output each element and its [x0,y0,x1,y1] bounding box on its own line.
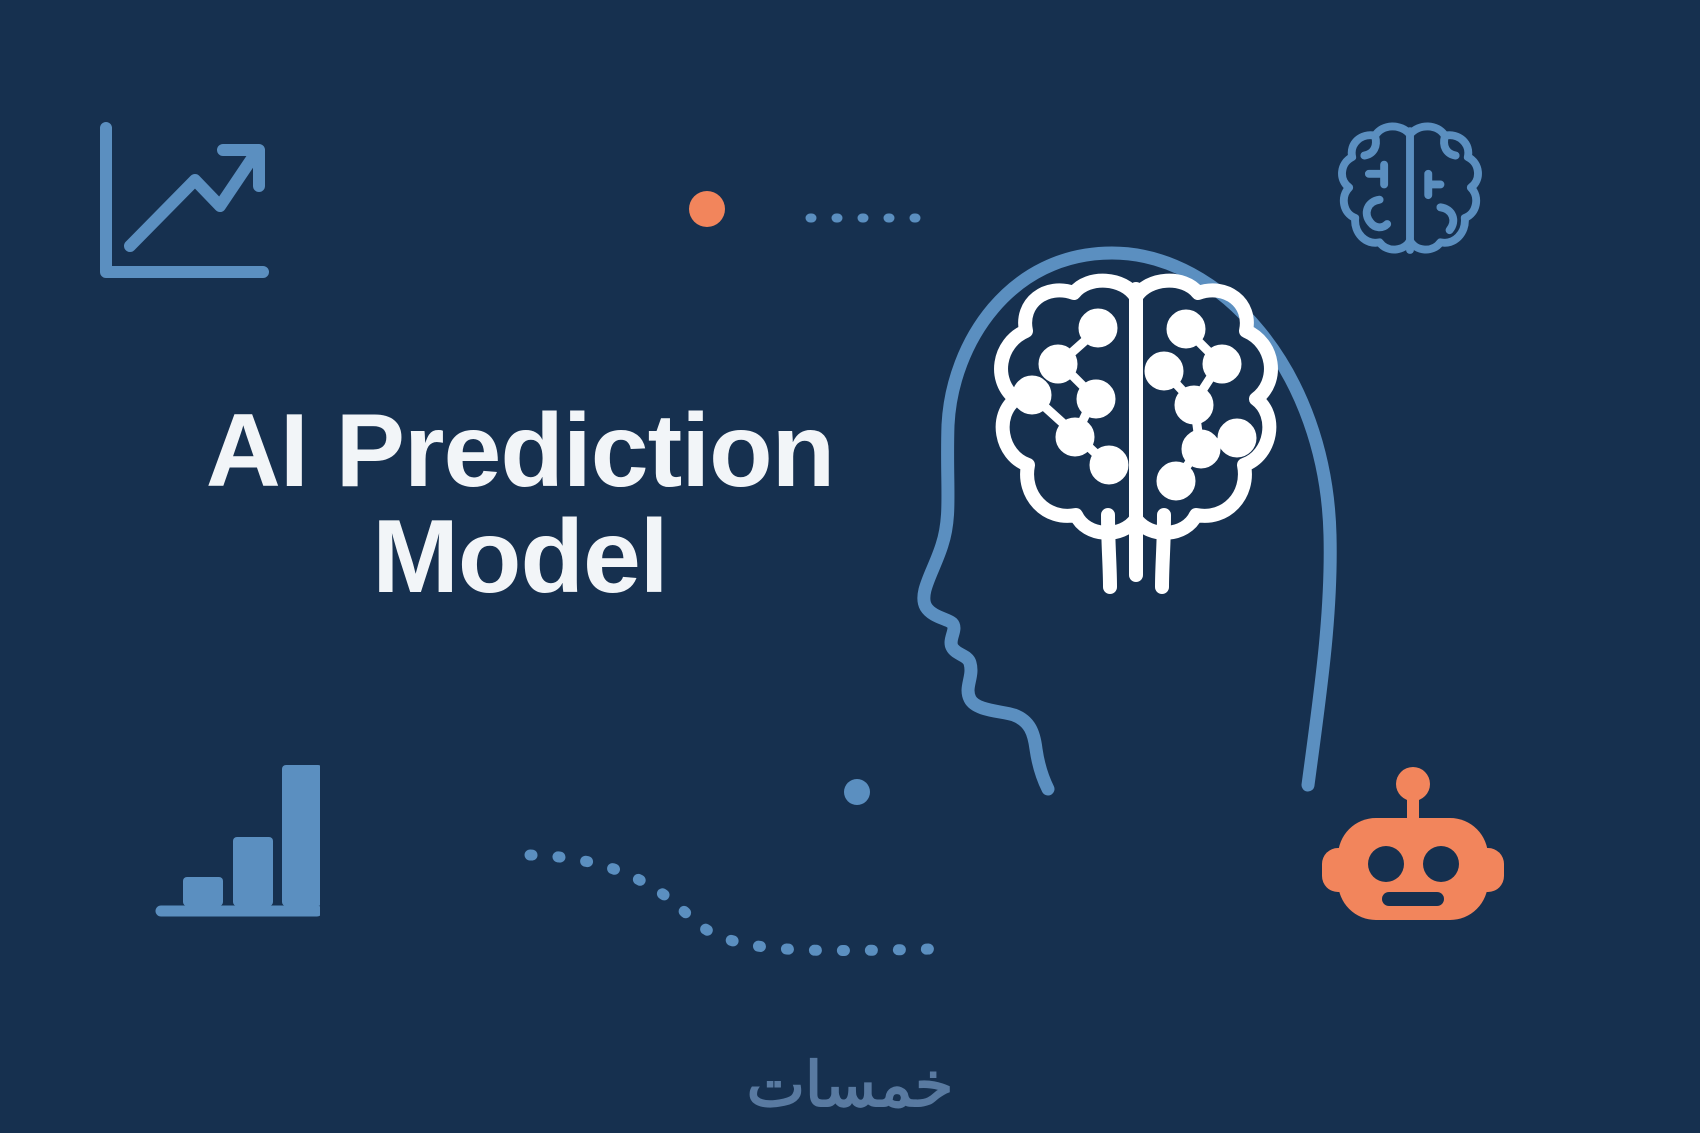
blue-accent-dot [840,775,874,809]
page-title-line-1: AI Prediction [160,398,880,504]
orange-accent-dot [686,188,728,230]
poster-canvas: AI Prediction Model خمسات [0,0,1700,1133]
circuit-brain-icon [1001,281,1271,587]
trending-up-line-chart-icon [90,118,275,288]
dashed-curve-bottom [520,835,940,965]
page-title: AI Prediction Model [160,398,880,610]
page-title-line-2: Model [160,504,880,610]
watermark-text: خمسات [0,1048,1700,1121]
head-profile-with-circuit-brain [890,215,1360,815]
bar-chart-icon [155,755,320,920]
